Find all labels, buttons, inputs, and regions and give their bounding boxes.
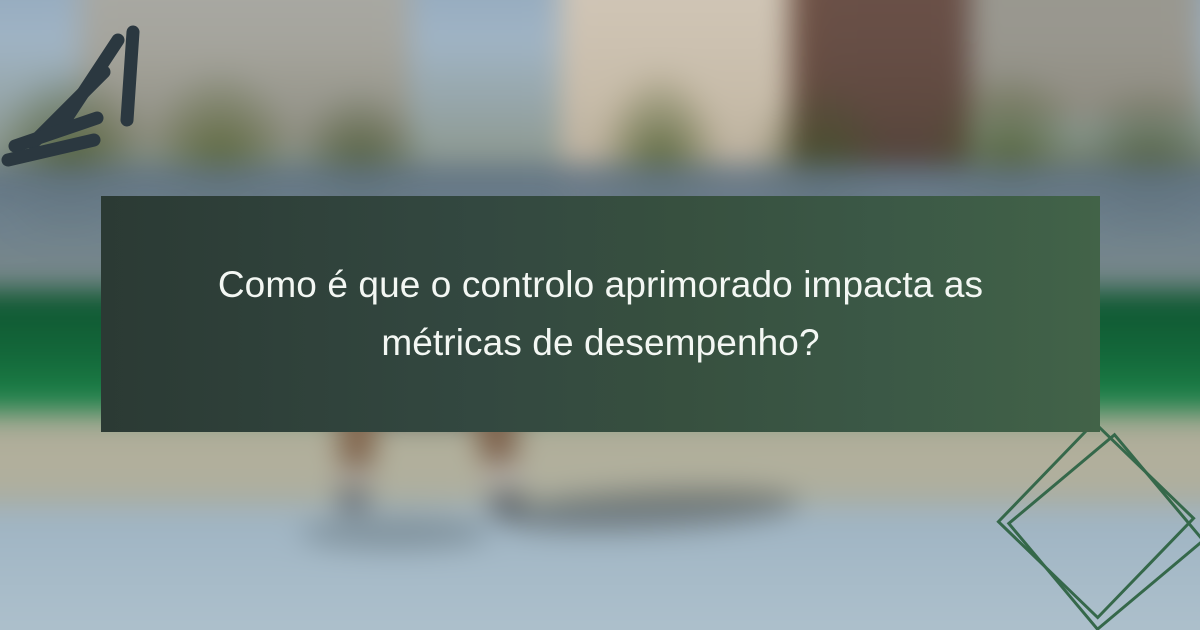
headline-card: Como é que o controlo aprimorado impacta…: [101, 196, 1100, 432]
page-title: Como é que o controlo aprimorado impacta…: [171, 256, 1030, 373]
background-foot-shadow: [300, 516, 490, 550]
social-card-canvas: Como é que o controlo aprimorado impacta…: [0, 0, 1200, 630]
